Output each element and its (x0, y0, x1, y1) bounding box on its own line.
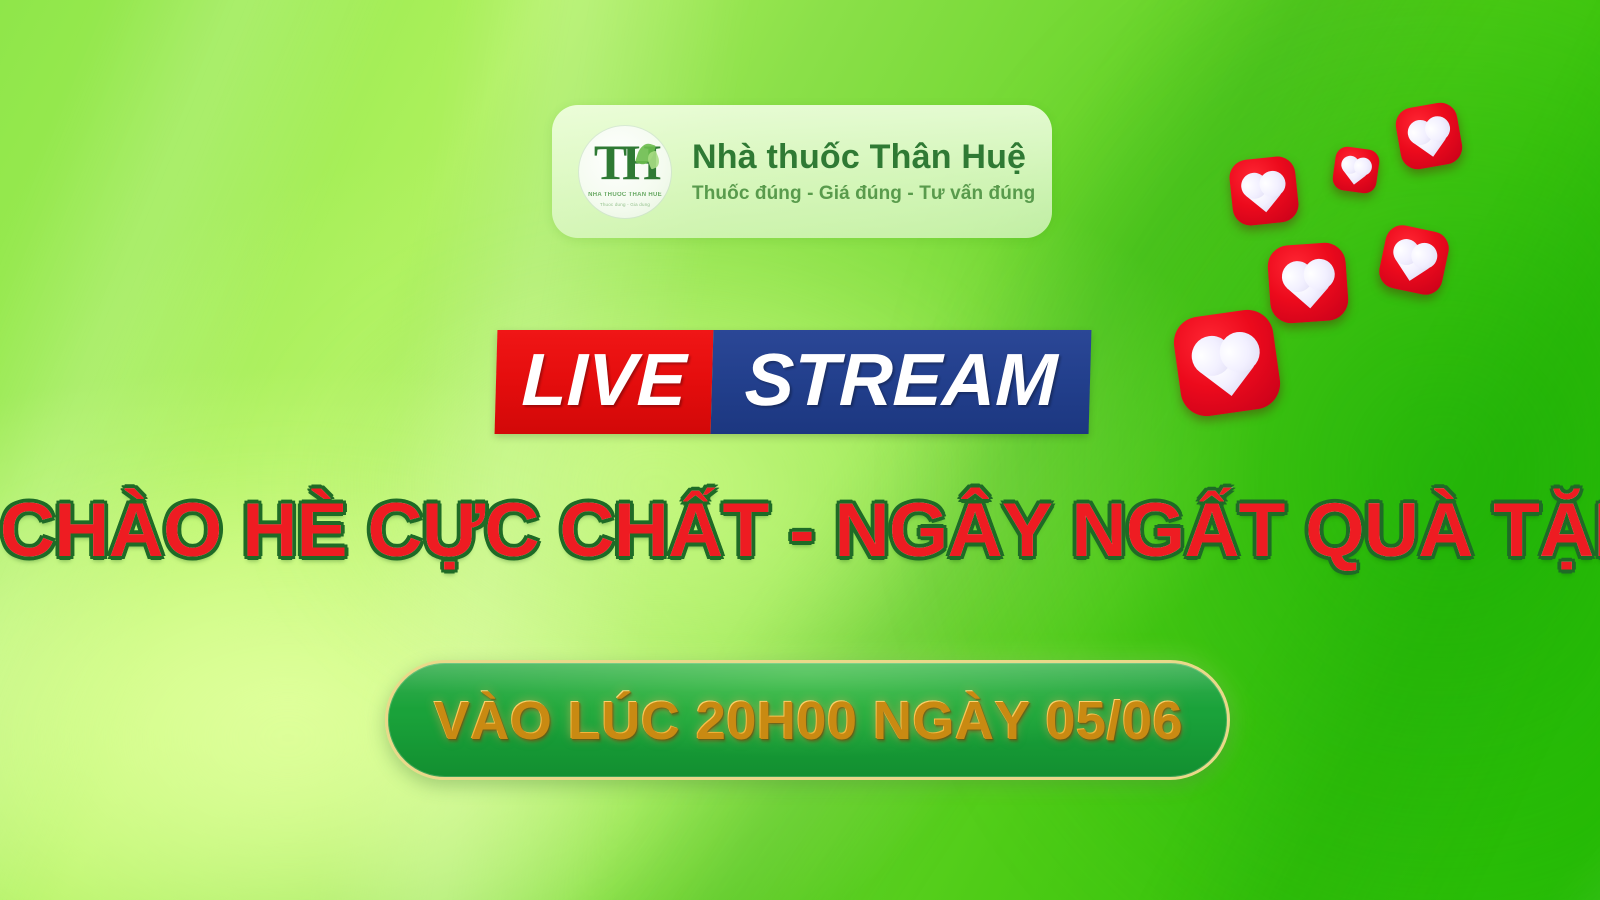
promo-headline: CHÀO HÈ CỰC CHẤT - NGÂY NGẤT QUÀ TẶNG (0, 493, 1600, 569)
live-label: LIVE (495, 330, 714, 434)
schedule-text: VÀO LÚC 20H00 NGÀY 05/06 (433, 689, 1182, 751)
heart-icon (1286, 265, 1330, 309)
heart-icon (1412, 122, 1447, 157)
logo-sub-line-2: Thuoc dung - Gia dung (578, 202, 672, 207)
heart-icon (1246, 176, 1283, 213)
pharmacy-logo-icon: TH NHA THUOC THAN HUE Thuoc dung - Gia d… (578, 125, 672, 219)
heart-icon (1343, 159, 1368, 184)
stream-label: STREAM (711, 330, 1092, 434)
brand-logo-badge: TH NHA THUOC THAN HUE Thuoc dung - Gia d… (552, 105, 1052, 238)
brand-text-group: Nhà thuốc Thân Huệ Thuốc đúng - Giá đúng… (692, 138, 1035, 204)
schedule-pill: VÀO LÚC 20H00 NGÀY 05/06 (385, 660, 1230, 780)
heart-icon (1200, 339, 1256, 395)
like-heart-sticker-2 (1331, 145, 1381, 195)
like-heart-sticker-3 (1228, 155, 1301, 228)
livestream-promo-banner: TH NHA THUOC THAN HUE Thuoc dung - Gia d… (0, 0, 1600, 900)
like-heart-sticker-1 (1393, 100, 1465, 172)
like-heart-sticker-6 (1171, 307, 1284, 420)
logo-sub-line-1: NHA THUOC THAN HUE (578, 192, 672, 198)
brand-tagline: Thuốc đúng - Giá đúng - Tư vấn đúng (692, 183, 1035, 205)
livestream-label-banner: LIVE STREAM (495, 330, 1092, 434)
heart-icon (1395, 245, 1431, 281)
like-heart-sticker-5 (1266, 241, 1349, 324)
brand-name: Nhà thuốc Thân Huệ (692, 138, 1035, 177)
